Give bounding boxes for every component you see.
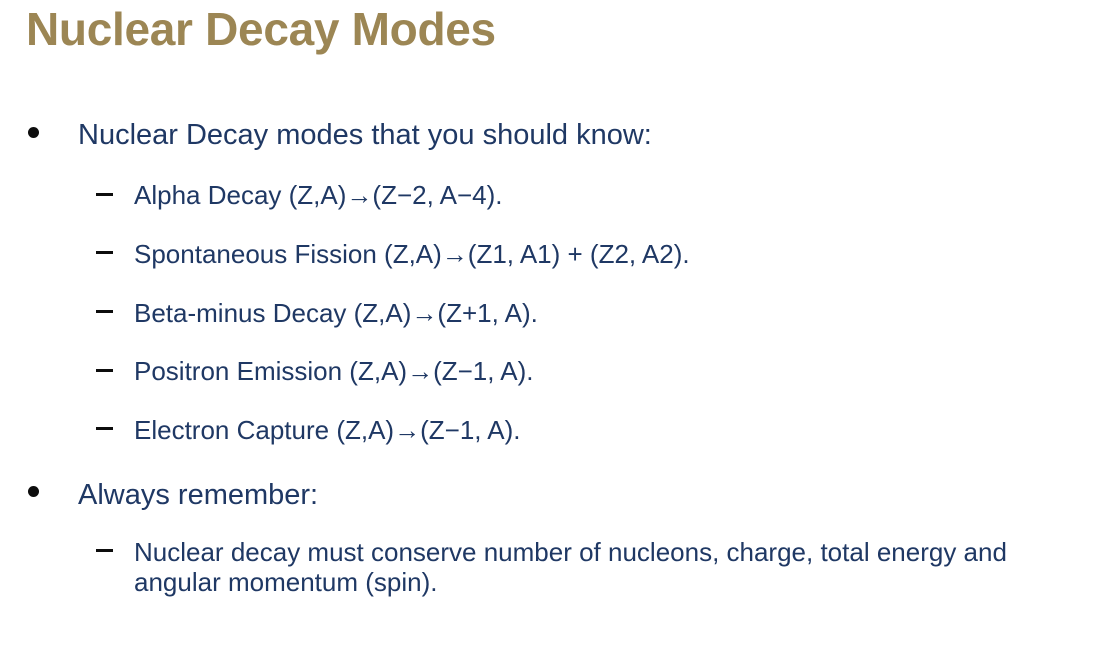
- sub-bullet-item-beta-minus-decay: Beta-minus Decay (Z,A)→(Z+1, A).: [0, 298, 1118, 329]
- sub-bullet-text: Electron Capture (Z,A)→(Z−1, A).: [134, 415, 521, 445]
- dash-marker-icon: [96, 180, 118, 211]
- dash-marker-icon: [96, 239, 118, 270]
- dash-marker-icon: [96, 356, 118, 387]
- slide: Nuclear Decay Modes Nuclear Decay modes …: [0, 0, 1118, 663]
- dash-marker-icon: [96, 298, 118, 329]
- bullet-item-nuclear-decay-modes: Nuclear Decay modes that you should know…: [0, 118, 1118, 152]
- sub-bullet-item-conservation-laws: Nuclear decay must conserve number of nu…: [0, 537, 1118, 598]
- sub-bullet-item-electron-capture: Electron Capture (Z,A)→(Z−1, A).: [0, 415, 1118, 446]
- bullet-text: Nuclear Decay modes that you should know…: [78, 119, 652, 151]
- bullet-text: Always remember:: [78, 479, 318, 511]
- sub-bullet-item-alpha-decay: Alpha Decay (Z,A)→(Z−2, A−4).: [0, 180, 1118, 211]
- page-title: Nuclear Decay Modes: [26, 2, 496, 57]
- dash-marker-icon: [96, 537, 118, 568]
- sub-bullet-item-spontaneous-fission: Spontaneous Fission (Z,A)→(Z1, A1) + (Z2…: [0, 239, 1118, 270]
- sub-bullet-text: Spontaneous Fission (Z,A)→(Z1, A1) + (Z2…: [134, 239, 690, 269]
- slide-body: Nuclear Decay modes that you should know…: [0, 118, 1118, 598]
- bullet-dot-icon: [28, 118, 44, 152]
- bullet-dot-icon: [28, 478, 44, 512]
- sub-bullet-text: Positron Emission (Z,A)→(Z−1, A).: [134, 356, 533, 386]
- sub-bullet-text: Beta-minus Decay (Z,A)→(Z+1, A).: [134, 298, 538, 328]
- bullet-item-always-remember: Always remember:: [0, 478, 1118, 512]
- sub-bullet-text: Nuclear decay must conserve number of nu…: [134, 537, 1007, 598]
- sub-bullet-item-positron-emission: Positron Emission (Z,A)→(Z−1, A).: [0, 356, 1118, 387]
- dash-marker-icon: [96, 415, 118, 446]
- sub-bullet-text: Alpha Decay (Z,A)→(Z−2, A−4).: [134, 180, 502, 210]
